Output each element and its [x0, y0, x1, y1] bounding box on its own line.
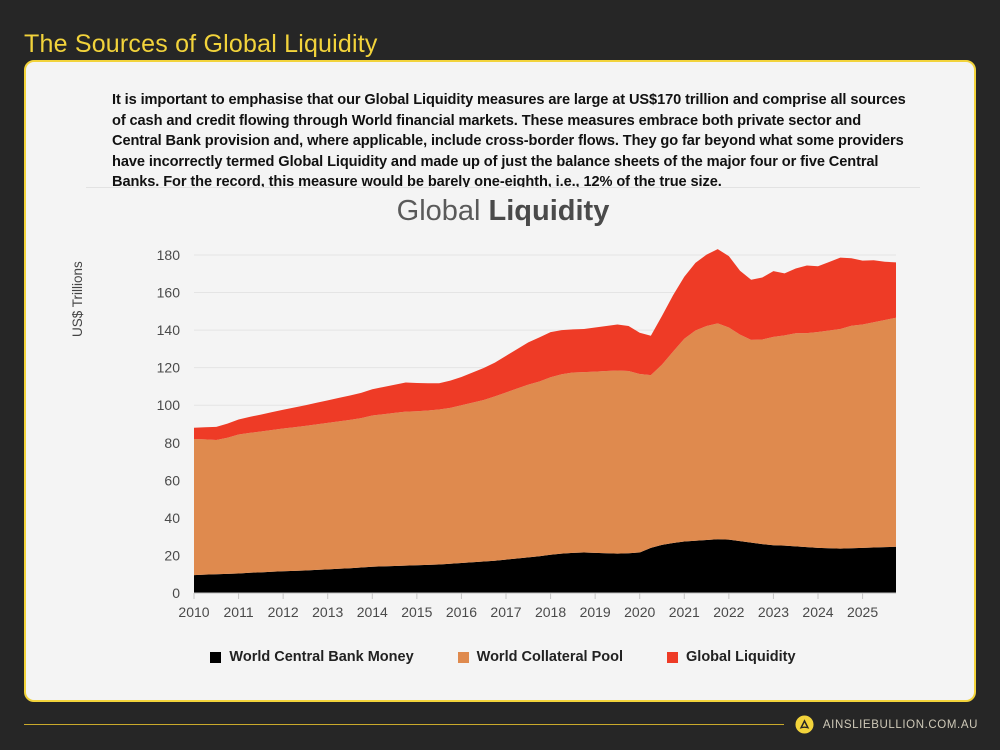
chart-title: Global Liquidity [86, 195, 920, 228]
svg-text:2021: 2021 [669, 604, 700, 620]
footer-site-label: AINSLIEBULLION.COM.AU [823, 719, 978, 731]
body-paragraph: It is important to emphasise that our Gl… [112, 90, 912, 193]
legend-item-label: World Collateral Pool [477, 649, 623, 665]
chart-title-regular: Global [397, 195, 489, 227]
svg-text:20: 20 [164, 547, 180, 563]
svg-text:2015: 2015 [401, 604, 432, 620]
svg-text:2017: 2017 [490, 604, 521, 620]
svg-text:100: 100 [157, 397, 181, 413]
svg-text:2011: 2011 [224, 604, 254, 620]
svg-text:2016: 2016 [446, 604, 477, 620]
svg-text:140: 140 [157, 322, 181, 338]
svg-text:2025: 2025 [847, 604, 878, 620]
svg-text:2014: 2014 [357, 604, 388, 620]
stacked-area-chart: 0204060801001201401601802010201120122013… [86, 247, 920, 627]
svg-text:2020: 2020 [624, 604, 655, 620]
brand-block: AINSLIEBULLION.COM.AU [795, 715, 978, 734]
svg-text:2018: 2018 [535, 604, 566, 620]
legend-swatch-icon [667, 652, 678, 663]
legend-item[interactable]: Global Liquidity [667, 649, 796, 665]
legend-item-label: Global Liquidity [686, 649, 796, 665]
legend-item-label: World Central Bank Money [229, 649, 413, 665]
page-footer: AINSLIEBULLION.COM.AU [0, 702, 1000, 750]
svg-text:2024: 2024 [802, 604, 833, 620]
svg-text:2012: 2012 [268, 604, 299, 620]
svg-text:60: 60 [164, 472, 180, 488]
legend-item[interactable]: World Central Bank Money [210, 649, 413, 665]
svg-text:120: 120 [157, 360, 181, 376]
legend-swatch-icon [210, 652, 221, 663]
y-axis-label: US$ Trillions [70, 261, 85, 337]
page-title: The Sources of Global Liquidity [24, 30, 378, 59]
svg-text:2023: 2023 [758, 604, 789, 620]
content-card: It is important to emphasise that our Gl… [24, 60, 976, 702]
legend-item[interactable]: World Collateral Pool [458, 649, 623, 665]
slide-root: The Sources of Global Liquidity It is im… [0, 0, 1000, 750]
svg-text:0: 0 [172, 585, 180, 601]
svg-text:160: 160 [157, 285, 181, 301]
svg-text:2019: 2019 [580, 604, 611, 620]
svg-text:2022: 2022 [713, 604, 744, 620]
plot-area: 0204060801001201401601802010201120122013… [86, 247, 920, 627]
svg-text:80: 80 [164, 435, 180, 451]
svg-text:40: 40 [164, 510, 180, 526]
footer-divider [24, 724, 784, 725]
chart-legend: World Central Bank MoneyWorld Collateral… [86, 649, 920, 665]
svg-text:2010: 2010 [178, 604, 209, 620]
ainslie-triangle-logo-icon [795, 715, 814, 734]
chart-title-bold: Liquidity [489, 195, 610, 227]
legend-swatch-icon [458, 652, 469, 663]
svg-text:180: 180 [157, 247, 181, 263]
svg-text:2013: 2013 [312, 604, 343, 620]
chart-panel: Global Liquidity US$ Trillions 020406080… [86, 187, 920, 687]
